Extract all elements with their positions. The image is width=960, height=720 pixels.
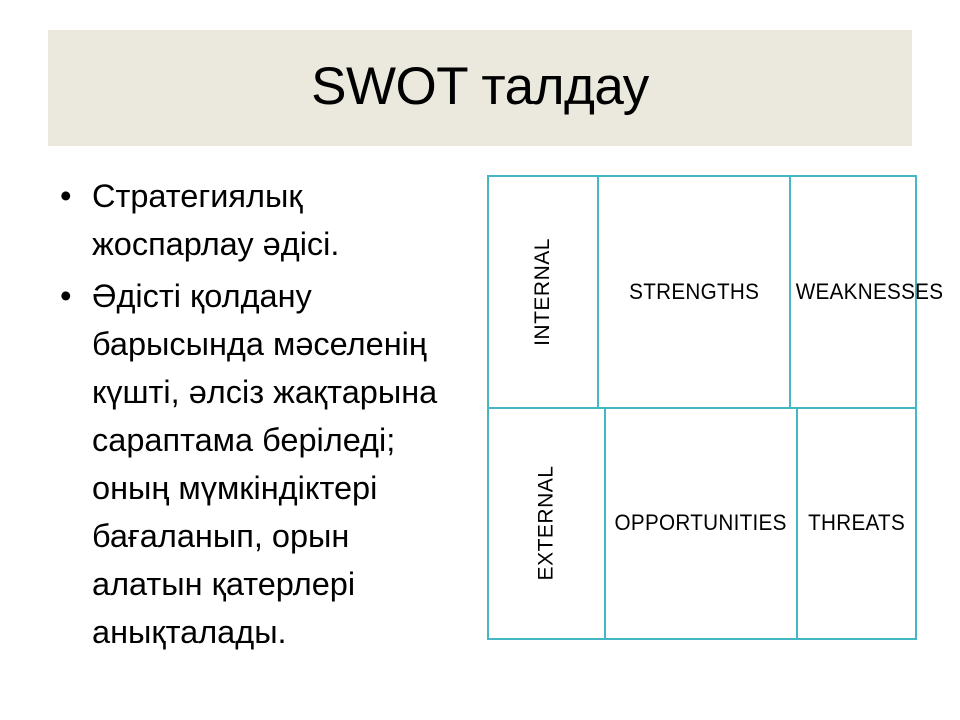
swot-matrix: INTERNAL STRENGTHS WEAKNESSES EXTERNAL O… <box>487 175 917 640</box>
title-band: SWOT талдау <box>48 30 912 146</box>
swot-cell-opportunities: OPPORTUNITIES <box>606 409 798 639</box>
swot-row-internal: INTERNAL STRENGTHS WEAKNESSES <box>489 177 915 409</box>
swot-axis-external: EXTERNAL <box>489 409 606 639</box>
list-item-text: Әдісті қолдану барысында мәселенің күшті… <box>92 278 437 650</box>
swot-axis-external-label: EXTERNAL <box>534 466 558 581</box>
page-title: SWOT талдау <box>48 56 912 118</box>
swot-axis-internal-label: INTERNAL <box>531 238 555 346</box>
swot-cell-strengths-label: STRENGTHS <box>629 279 759 305</box>
swot-cell-weaknesses: WEAKNESSES <box>791 177 948 407</box>
swot-cell-threats-label: THREATS <box>808 510 905 536</box>
swot-row-external: EXTERNAL OPPORTUNITIES THREATS <box>489 409 915 639</box>
bullet-dot-icon: • <box>60 272 72 320</box>
swot-cell-strengths: STRENGTHS <box>599 177 791 407</box>
slide-canvas: SWOT талдау • Стратегиялық жоспарлау әді… <box>0 0 960 720</box>
bullet-list: • Стратегиялық жоспарлау әдісі. • Әдісті… <box>52 172 467 660</box>
bullet-dot-icon: • <box>60 172 72 220</box>
swot-cell-weaknesses-label: WEAKNESSES <box>796 279 944 305</box>
list-item: • Стратегиялық жоспарлау әдісі. <box>52 172 467 268</box>
list-item: • Әдісті қолдану барысында мәселенің күш… <box>52 272 467 656</box>
swot-axis-internal: INTERNAL <box>489 177 599 407</box>
list-item-text: Стратегиялық жоспарлау әдісі. <box>92 178 339 262</box>
swot-cell-opportunities-label: OPPORTUNITIES <box>615 510 787 536</box>
swot-cell-threats: THREATS <box>798 409 915 639</box>
